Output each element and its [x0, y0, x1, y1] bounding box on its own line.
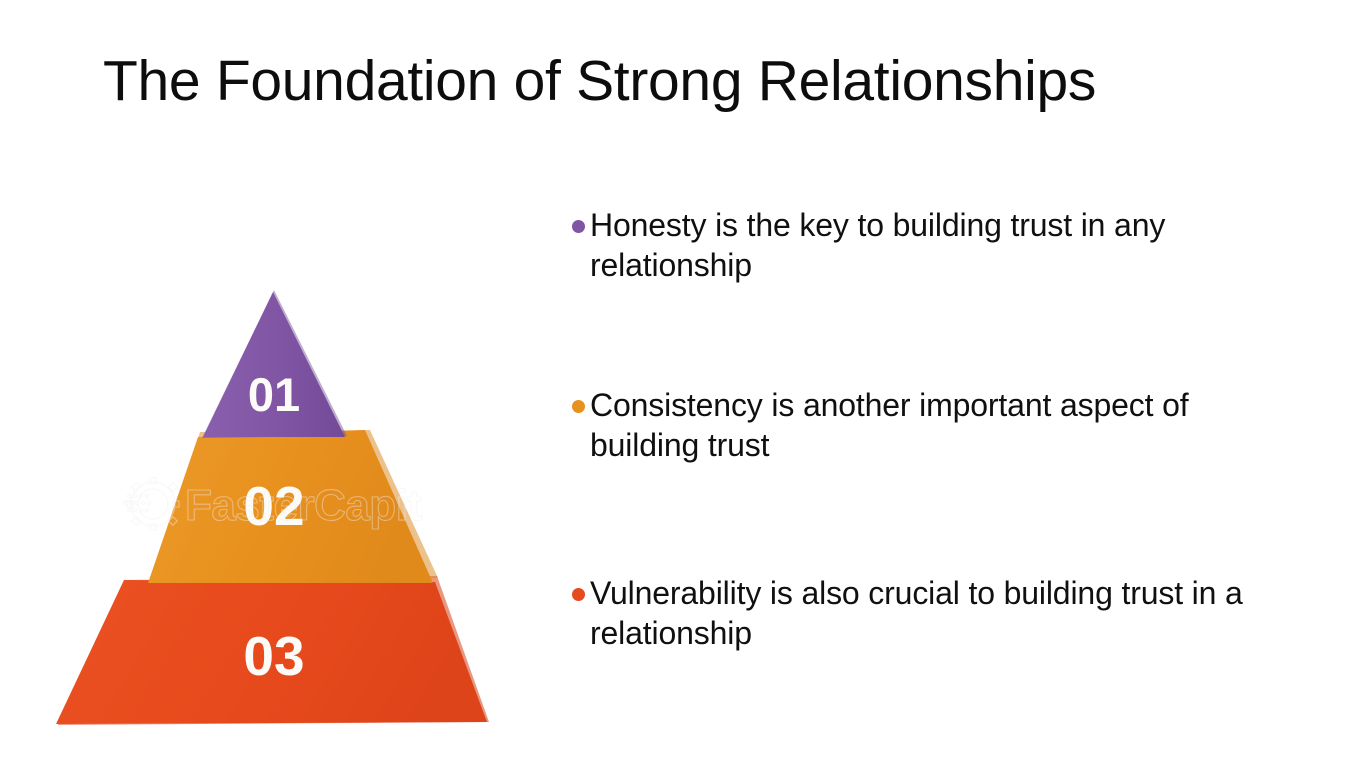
bullet-dot-icon: [572, 588, 585, 601]
bullet-text: Honesty is the key to building trust in …: [590, 205, 1292, 286]
list-item: Consistency is another important aspect …: [572, 385, 1292, 466]
pyramid-diagram: 03 02 01: [40, 280, 510, 740]
pyramid-level-2[interactable]: 02: [148, 430, 438, 583]
pyramid-level-2-number: 02: [243, 475, 304, 537]
pyramid-level-3-number: 03: [243, 625, 304, 687]
pyramid-level-1-number: 01: [248, 368, 300, 421]
bullet-text: Vulnerability is also crucial to buildin…: [590, 573, 1292, 654]
list-item: Honesty is the key to building trust in …: [572, 205, 1292, 286]
bullet-text: Consistency is another important aspect …: [590, 385, 1292, 466]
bullet-dot-icon: [572, 400, 585, 413]
pyramid-level-1[interactable]: 01: [202, 290, 347, 438]
bullet-dot-icon: [572, 220, 585, 233]
list-item: Vulnerability is also crucial to buildin…: [572, 573, 1292, 654]
pyramid-level-3[interactable]: 03: [56, 576, 489, 725]
page-title: The Foundation of Strong Relationships: [103, 50, 1253, 114]
presentation-slide: The Foundation of Strong Relationships: [0, 0, 1350, 759]
